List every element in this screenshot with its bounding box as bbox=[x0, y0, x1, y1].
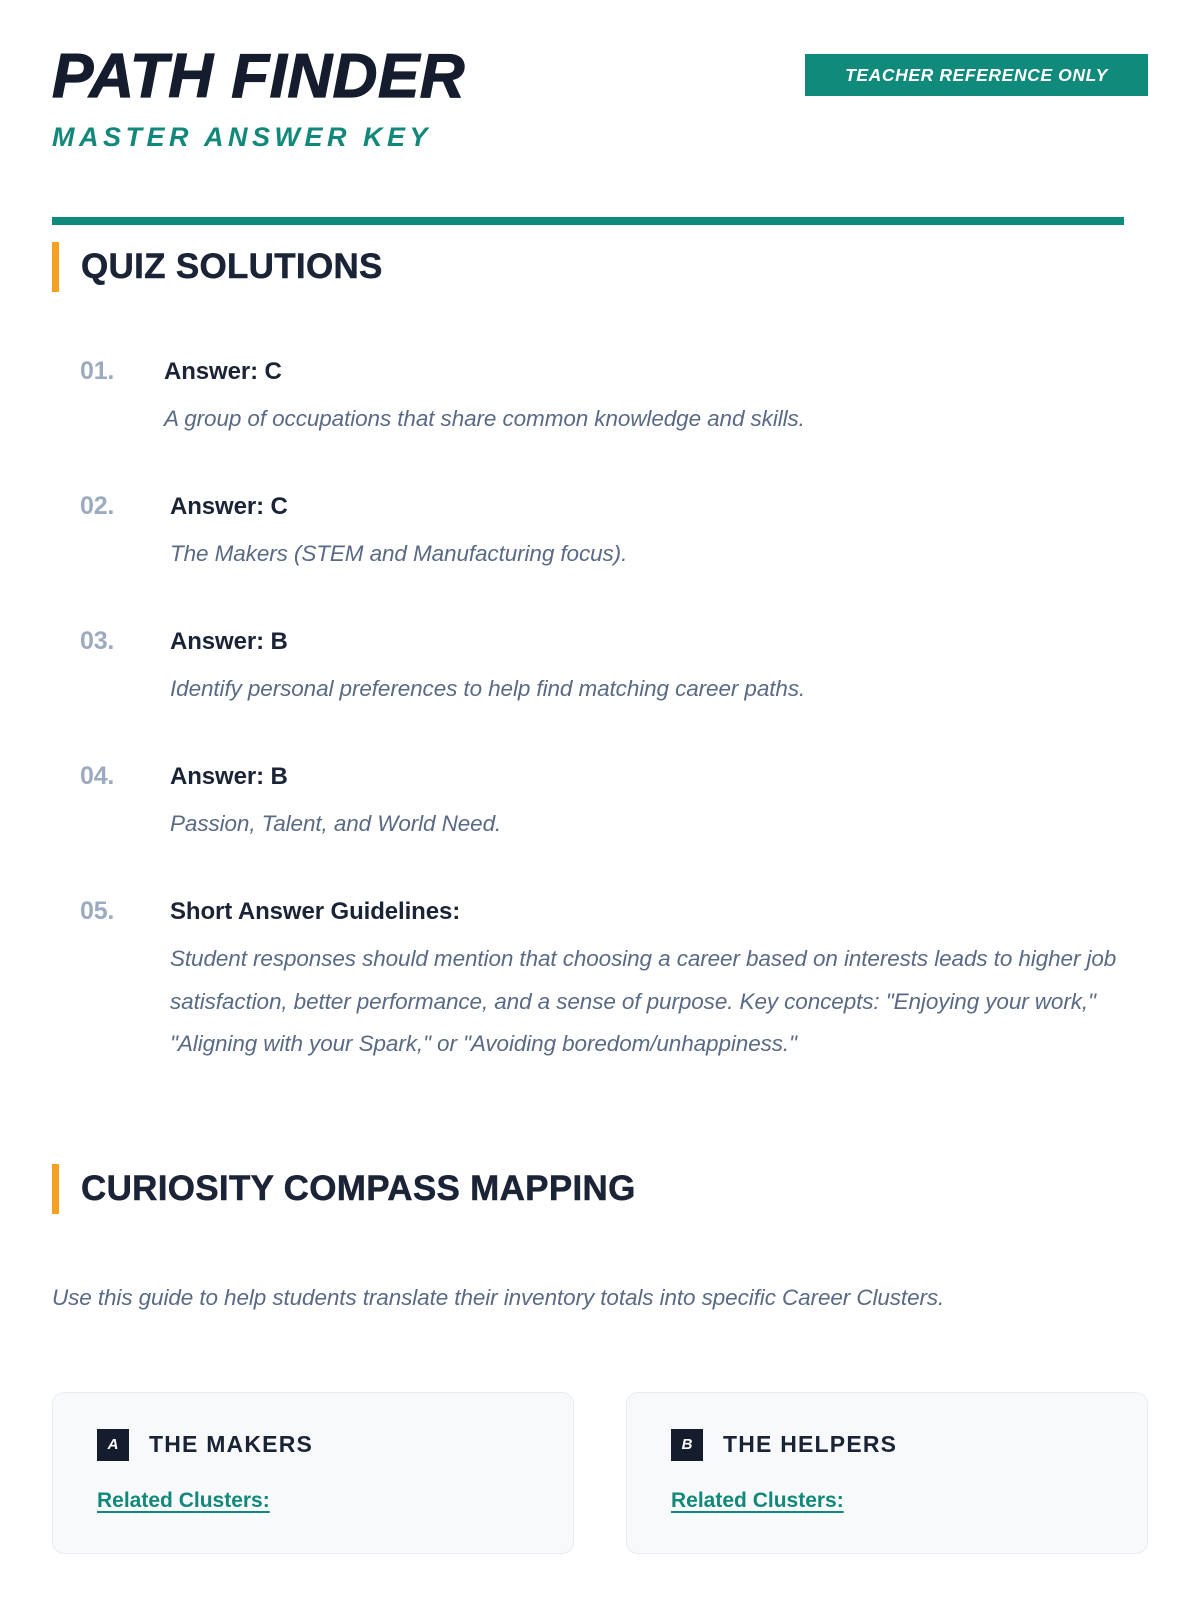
quiz-item-explanation: Student responses should mention that ch… bbox=[170, 938, 1148, 1066]
accent-bar-icon bbox=[52, 242, 59, 292]
quiz-section-heading: QUIZ SOLUTIONS bbox=[52, 242, 1148, 292]
quiz-item-body: Answer: B Passion, Talent, and World Nee… bbox=[170, 761, 1148, 846]
quiz-list: 01. Answer: C A group of occupations tha… bbox=[52, 356, 1148, 1066]
answer-key-page: PATH FINDER MASTER ANSWER KEY TEACHER RE… bbox=[0, 0, 1200, 1600]
letter-badge-icon: A bbox=[97, 1429, 129, 1461]
cluster-card-helpers[interactable]: B THE HELPERS Related Clusters: bbox=[626, 1392, 1148, 1554]
accent-bar-icon bbox=[52, 1164, 59, 1214]
quiz-item: 03. Answer: B Identify personal preferen… bbox=[80, 626, 1148, 711]
cluster-card-head: A THE MAKERS bbox=[97, 1429, 529, 1461]
cluster-card-title: THE HELPERS bbox=[723, 1431, 897, 1458]
quiz-item-body: Short Answer Guidelines: Student respons… bbox=[170, 896, 1148, 1066]
quiz-item-answer: Answer: C bbox=[170, 491, 1148, 522]
quiz-item-answer: Answer: C bbox=[164, 356, 1148, 387]
quiz-item: 02. Answer: C The Makers (STEM and Manuf… bbox=[80, 491, 1148, 576]
quiz-item-number: 05. bbox=[80, 896, 170, 927]
quiz-item: 01. Answer: C A group of occupations tha… bbox=[80, 356, 1148, 441]
status-badge: TEACHER REFERENCE ONLY bbox=[805, 54, 1148, 96]
quiz-item-number: 02. bbox=[80, 491, 170, 522]
quiz-solutions-section: QUIZ SOLUTIONS 01. Answer: C A group of … bbox=[52, 242, 1148, 1066]
header-divider bbox=[52, 217, 1124, 225]
quiz-item-number: 01. bbox=[80, 356, 164, 387]
quiz-item: 04. Answer: B Passion, Talent, and World… bbox=[80, 761, 1148, 846]
curiosity-compass-section: CURIOSITY COMPASS MAPPING Use this guide… bbox=[52, 1164, 1148, 1554]
quiz-item-explanation: Identify personal preferences to help fi… bbox=[170, 668, 1148, 711]
quiz-item-explanation: Passion, Talent, and World Need. bbox=[170, 803, 1148, 846]
related-clusters-label: Related Clusters: bbox=[97, 1489, 529, 1513]
cluster-card-makers[interactable]: A THE MAKERS Related Clusters: bbox=[52, 1392, 574, 1554]
page-header: PATH FINDER MASTER ANSWER KEY TEACHER RE… bbox=[52, 0, 1148, 172]
cluster-card-title: THE MAKERS bbox=[149, 1431, 313, 1458]
quiz-item-answer: Answer: B bbox=[170, 761, 1148, 792]
cluster-cards-row: A THE MAKERS Related Clusters: B THE HEL… bbox=[52, 1392, 1148, 1554]
quiz-item-number: 03. bbox=[80, 626, 170, 657]
compass-intro-text: Use this guide to help students translat… bbox=[52, 1277, 1052, 1320]
quiz-item-answer: Answer: B bbox=[170, 626, 1148, 657]
quiz-section-title: QUIZ SOLUTIONS bbox=[81, 247, 383, 287]
quiz-item-explanation: The Makers (STEM and Manufacturing focus… bbox=[170, 533, 1148, 576]
cluster-card-head: B THE HELPERS bbox=[671, 1429, 1103, 1461]
related-clusters-label: Related Clusters: bbox=[671, 1489, 1103, 1513]
compass-section-heading: CURIOSITY COMPASS MAPPING bbox=[52, 1164, 1148, 1214]
page-subtitle: MASTER ANSWER KEY bbox=[52, 122, 1148, 153]
quiz-item-body: Answer: C A group of occupations that sh… bbox=[164, 356, 1148, 441]
letter-badge-icon: B bbox=[671, 1429, 703, 1461]
quiz-item-answer: Short Answer Guidelines: bbox=[170, 896, 1148, 927]
quiz-item-body: Answer: B Identify personal preferences … bbox=[170, 626, 1148, 711]
quiz-item-explanation: A group of occupations that share common… bbox=[164, 398, 1148, 441]
quiz-item: 05. Short Answer Guidelines: Student res… bbox=[80, 896, 1148, 1066]
compass-section-title: CURIOSITY COMPASS MAPPING bbox=[81, 1169, 636, 1209]
quiz-item-number: 04. bbox=[80, 761, 170, 792]
quiz-item-body: Answer: C The Makers (STEM and Manufactu… bbox=[170, 491, 1148, 576]
